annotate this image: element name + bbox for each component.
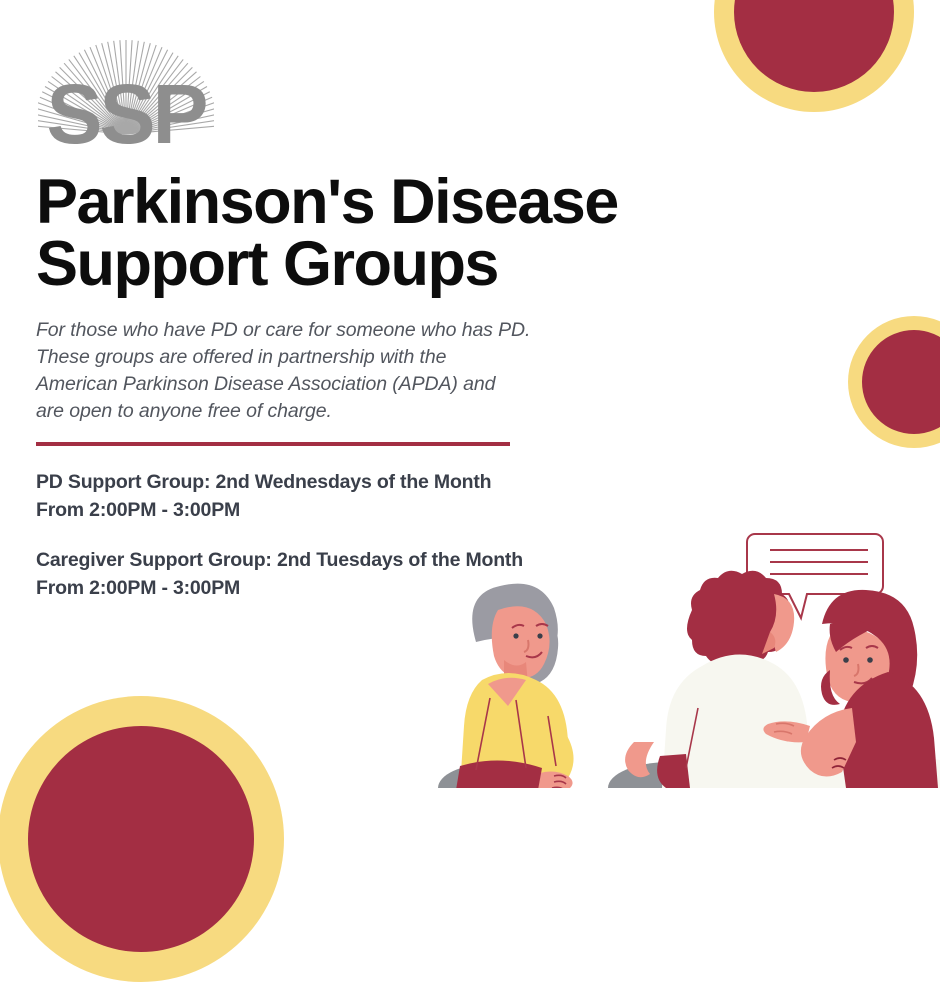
description-text: For those who have PD or care for someon…: [36, 317, 736, 425]
section-divider: [36, 442, 510, 446]
schedule-time: From 2:00PM - 3:00PM: [36, 574, 736, 602]
logo-wordmark: SSP: [46, 67, 206, 161]
schedule-title: PD Support Group: 2nd Wednesdays of the …: [36, 468, 736, 496]
schedule-time: From 2:00PM - 3:00PM: [36, 496, 736, 524]
deco-circle-bottom-left-inner: [28, 726, 254, 952]
page-title: Parkinson's Disease Support Groups: [36, 172, 736, 295]
schedule-title: Caregiver Support Group: 2nd Tuesdays of…: [36, 546, 736, 574]
schedule-item-caregiver-support-group: Caregiver Support Group: 2nd Tuesdays of…: [36, 546, 736, 603]
figure-back-view-cream-sweater: [625, 571, 810, 788]
figure-woman-gray-hair-yellow-top: [456, 584, 574, 788]
ssp-sunburst-logo: SSP: [38, 26, 214, 166]
schedule-item-pd-support-group: PD Support Group: 2nd Wednesdays of the …: [36, 468, 736, 525]
poster-content: Parkinson's Disease Support Groups For t…: [36, 172, 736, 602]
